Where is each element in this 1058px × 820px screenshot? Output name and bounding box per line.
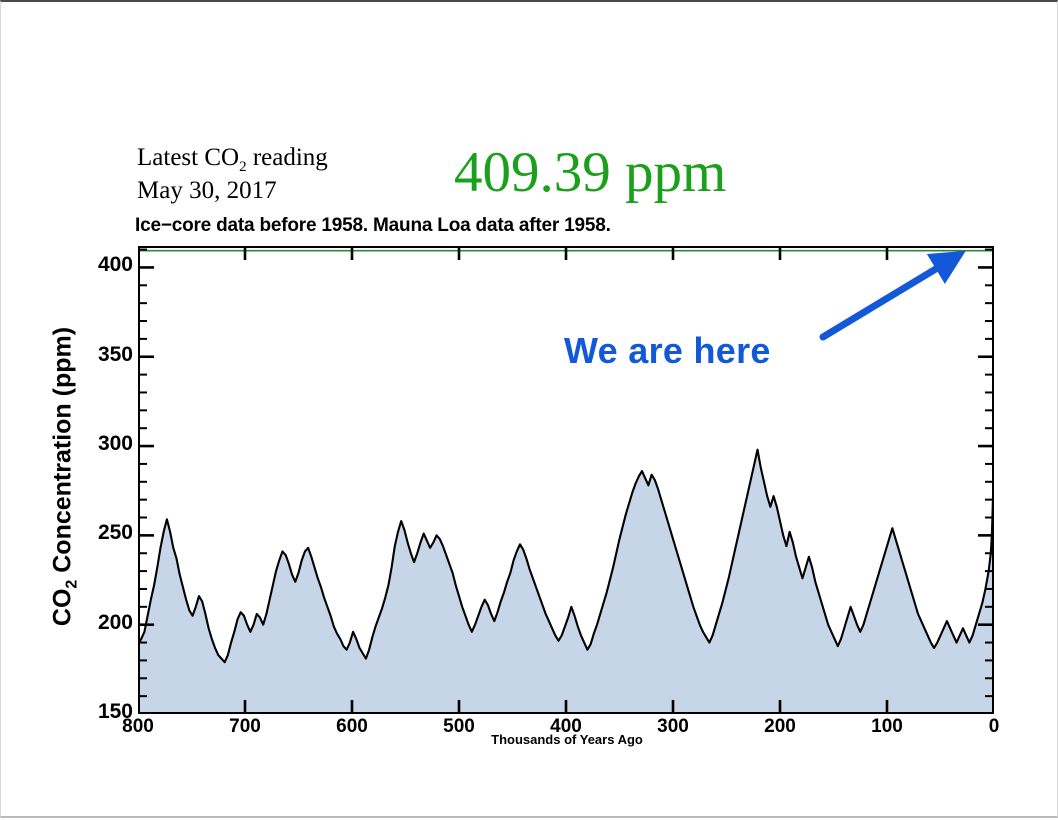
x-axis-title: Thousands of Years Ago	[140, 732, 994, 747]
co2-subscript: 2	[239, 159, 247, 175]
data-source-note: Ice−core data before 1958. Mauna Loa dat…	[135, 214, 611, 238]
chart-page: Latest CO2 reading May 30, 2017 409.39 p…	[1, 2, 1057, 816]
latest-reading-date: May 30, 2017	[137, 174, 277, 207]
y-tick-400: 400	[98, 253, 133, 277]
we-are-here-label: We are here	[564, 330, 771, 372]
y-tick-200: 200	[98, 611, 133, 635]
y-tick-250: 250	[98, 521, 133, 545]
latest-reading-prefix: Latest CO	[137, 144, 239, 171]
latest-reading-value: 409.39 ppm	[454, 142, 726, 204]
we-are-here-arrow-icon	[801, 245, 981, 345]
latest-reading-label: Latest CO2 reading	[137, 141, 328, 174]
y-tick-350: 350	[98, 343, 133, 367]
y-tick-300: 300	[98, 432, 133, 456]
y-axis-tick-labels: 150200250300350400	[61, 2, 133, 820]
latest-reading-suffix: reading	[247, 144, 328, 171]
